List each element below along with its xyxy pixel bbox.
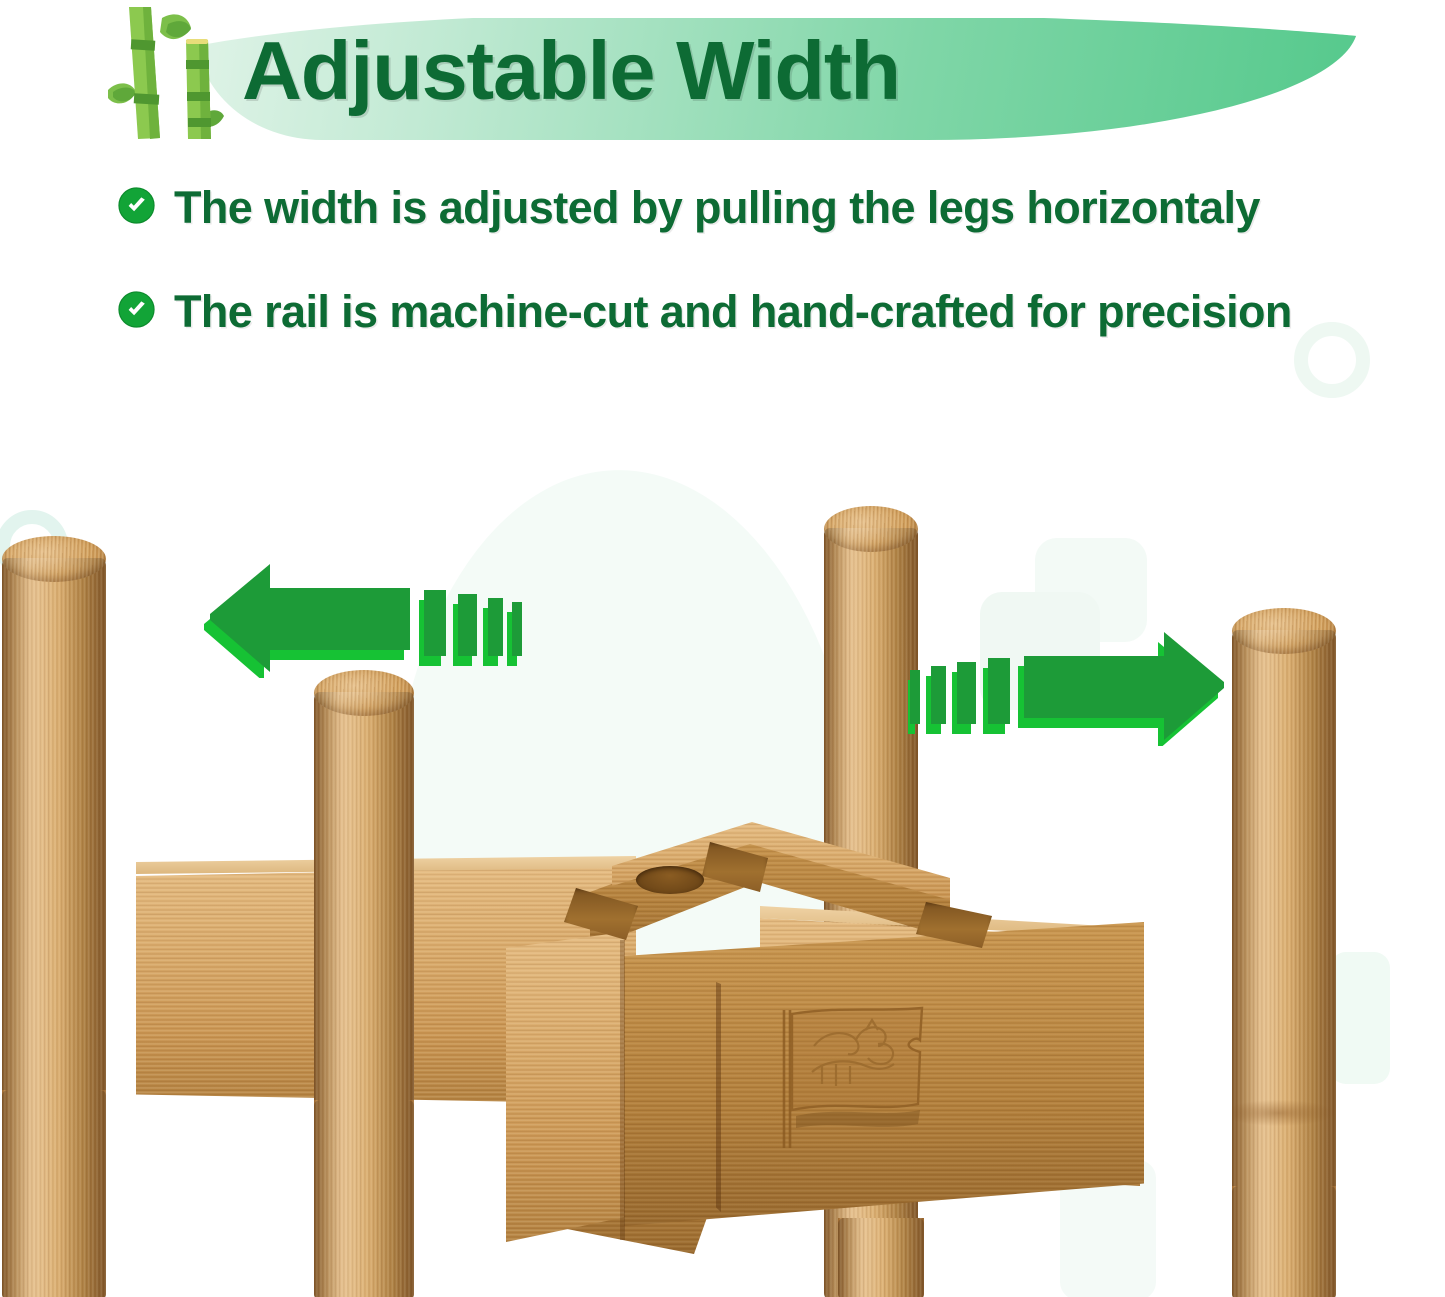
leg-sheen bbox=[838, 1218, 924, 1297]
arrow-right bbox=[908, 626, 1238, 746]
check-circle-icon bbox=[118, 291, 155, 328]
leg-front-right-lower bbox=[1232, 1186, 1336, 1297]
check-circle-icon bbox=[118, 187, 155, 224]
page-title: Adjustable Width bbox=[242, 19, 900, 123]
list-item: The rail is machine-cut and hand-crafted… bbox=[118, 282, 1348, 342]
leg-sheen bbox=[314, 1100, 414, 1297]
feature-bullet-list: The width is adjusted by pulling the leg… bbox=[118, 178, 1348, 386]
bamboo-stalks-icon bbox=[96, 2, 228, 144]
product-photo bbox=[0, 470, 1445, 1297]
rail-seam-shadow bbox=[716, 982, 721, 1212]
leg-mid-left-lower bbox=[314, 1100, 414, 1297]
leg-back-right-lower bbox=[838, 1218, 924, 1297]
rail-seam-shadow bbox=[620, 940, 625, 1240]
infographic-page: Adjustable Width bbox=[0, 0, 1445, 1297]
leg-sheen bbox=[2, 1090, 106, 1297]
leg-front-left-lower bbox=[2, 1090, 106, 1297]
leg-sheen bbox=[1232, 1186, 1336, 1297]
dowel-hole bbox=[636, 866, 704, 894]
list-item: The width is adjusted by pulling the leg… bbox=[118, 178, 1348, 238]
rail-center-upright bbox=[506, 932, 624, 1242]
zpirate-flag-logo bbox=[770, 1000, 940, 1150]
bullet-text: The rail is machine-cut and hand-crafted… bbox=[174, 282, 1292, 342]
arrow-left bbox=[196, 558, 526, 678]
bullet-text: The width is adjusted by pulling the leg… bbox=[174, 178, 1260, 238]
